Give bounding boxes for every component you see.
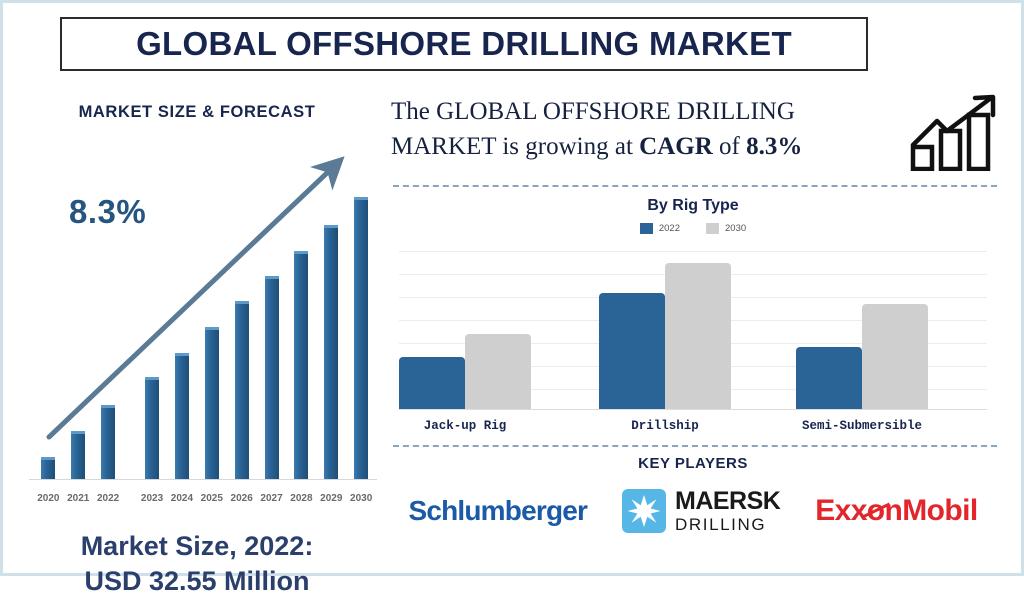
market-size-forecast-chart: 8.3% 20202021202220232024202520262027202… [11, 149, 383, 504]
rig-type-chart: Jack-up RigDrillshipSemi-Submersible [391, 243, 995, 433]
legend-item[interactable]: 2022 [640, 223, 680, 234]
maersk-line1: MAERSK [675, 489, 780, 514]
rig-type-section-title: By Rig Type [391, 197, 995, 215]
rig-bar [399, 357, 465, 409]
growth-bar-year-label: 2030 [343, 493, 379, 504]
page-title: GLOBAL OFFSHORE DRILLING MARKET [136, 25, 792, 63]
rig-chart-legend: 20222030 [391, 223, 995, 234]
rig-category-label: Semi-Submersible [768, 419, 956, 433]
legend-swatch-icon [640, 223, 653, 234]
rig-bar [465, 334, 531, 409]
growth-bar [71, 431, 85, 479]
legend-item[interactable]: 2030 [706, 223, 746, 234]
market-size-panel: MARKET SIZE & FORECAST 8.3% 202020212022… [11, 89, 383, 559]
growth-bar [265, 276, 279, 479]
infographic-page: GLOBAL OFFSHORE DRILLING MARKET MARKET S… [0, 0, 1024, 576]
rig-category-label: Drillship [571, 419, 759, 433]
divider-top [393, 185, 997, 187]
maersk-line2: DRILLING [675, 516, 780, 533]
logo-schlumberger: Schlumberger [408, 495, 587, 527]
headline-cagr: CAGR [639, 133, 713, 160]
schlumberger-wordmark: Schlumberger [408, 495, 587, 527]
rig-bar [862, 304, 928, 409]
title-box: GLOBAL OFFSHORE DRILLING MARKET [60, 17, 868, 71]
rig-bar [796, 347, 862, 409]
market-size-line2: USD 32.55 Million [11, 564, 383, 598]
growth-bar [101, 405, 115, 479]
rig-chart-baseline [399, 409, 987, 410]
growth-bar [294, 251, 308, 479]
growth-bar [41, 457, 55, 479]
growth-bar [235, 301, 249, 479]
headline-rate: 8.3% [746, 133, 802, 160]
market-size-value: Market Size, 2022: USD 32.55 Million [11, 529, 383, 598]
exxon-text: ExxonMobil [815, 494, 977, 527]
exxonmobil-wordmark: ExxonMobil [815, 494, 977, 528]
growth-bar [354, 197, 368, 479]
seven-point-star-icon [622, 489, 666, 533]
legend-swatch-icon [706, 223, 719, 234]
bar-group [599, 263, 731, 409]
key-players-title: KEY PLAYERS [391, 455, 995, 472]
bar-group [399, 334, 531, 409]
legend-label: 2022 [659, 223, 680, 234]
rig-bar [599, 293, 665, 409]
rig-category-label: Jack-up Rig [371, 419, 559, 433]
bar-group [796, 304, 928, 409]
growth-bar [175, 353, 189, 479]
maersk-wordmark: MAERSK DRILLING [675, 489, 780, 533]
growth-bar [205, 327, 219, 479]
logo-maersk-drilling: MAERSK DRILLING [622, 489, 780, 533]
headline-text: The GLOBAL OFFSHORE DRILLING MARKET is g… [391, 89, 861, 164]
legend-label: 2030 [725, 223, 746, 234]
key-players-logos: Schlumberger MAERSK DRILLING ExxonMobil [391, 479, 995, 543]
divider-bottom [393, 445, 997, 447]
details-panel: The GLOBAL OFFSHORE DRILLING MARKET is g… [391, 89, 1017, 559]
rig-bar [665, 263, 731, 409]
cagr-annotation: 8.3% [69, 193, 146, 231]
gridline [399, 251, 987, 252]
logo-exxonmobil: ExxonMobil [815, 494, 977, 528]
growth-bar-year-label: 2022 [90, 493, 126, 504]
bar-chart-growth-icon [907, 93, 1011, 171]
market-size-line1: Market Size, 2022: [11, 529, 383, 564]
growth-bar [324, 225, 338, 479]
headline-middle: of [713, 133, 746, 160]
left-panel-heading: MARKET SIZE & FORECAST [11, 103, 383, 122]
growth-bar [145, 377, 159, 479]
